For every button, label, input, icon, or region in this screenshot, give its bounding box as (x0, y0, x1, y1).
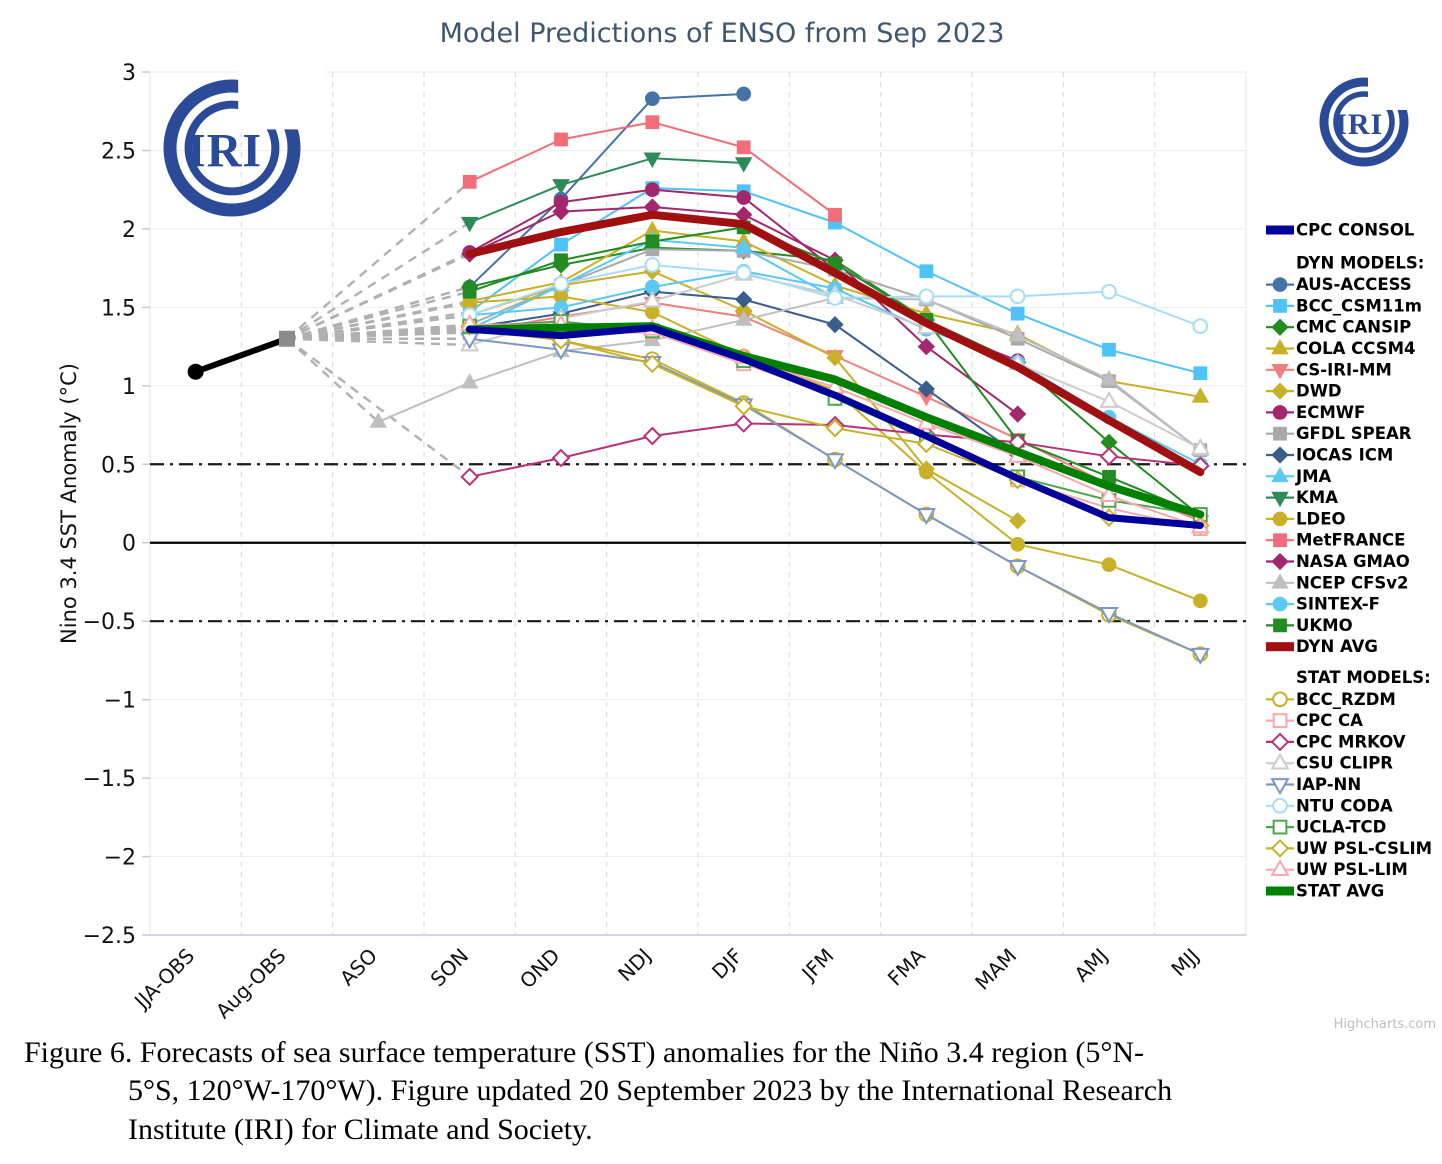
data-point-marker (1272, 554, 1288, 570)
legend-item-label: UW PSL-CSLIM (1296, 839, 1432, 858)
legend-item-label: COLA CCSM4 (1296, 339, 1415, 358)
data-point-marker (1272, 755, 1288, 769)
legend-item-label: CSU CLIPR (1296, 754, 1393, 773)
data-point-marker (1011, 307, 1024, 320)
legend-item-label: UKMO (1296, 616, 1353, 635)
legend-item[interactable]: JMA (1266, 467, 1332, 486)
legend-item-label: SINTEX-F (1296, 595, 1380, 614)
data-point-marker (1102, 285, 1116, 299)
legend-item[interactable]: BCC_RZDM (1266, 690, 1396, 709)
y-axis-tick-label: 1 (122, 375, 136, 400)
iri-logo-mask (238, 71, 325, 130)
observation-point (188, 364, 204, 380)
data-point-marker (1273, 692, 1287, 706)
iri-logo-text: IRI (1335, 108, 1383, 141)
data-point-marker (646, 183, 660, 197)
legend-item[interactable]: KMA (1266, 488, 1338, 507)
data-point-marker (1272, 319, 1288, 335)
data-point-marker (1274, 821, 1287, 834)
legend-item[interactable]: NTU CODA (1266, 796, 1393, 815)
data-point-marker (828, 291, 842, 305)
legend-item[interactable]: SINTEX-F (1266, 595, 1380, 614)
legend-item[interactable]: NCEP CFSv2 (1266, 573, 1409, 592)
data-point-marker (1272, 468, 1288, 482)
x-axis-tick-label: JJA-OBS (128, 944, 199, 1015)
data-point-marker (554, 277, 568, 291)
x-axis-tick-label: OND (515, 944, 565, 994)
data-point-marker (1273, 799, 1287, 813)
data-point-marker (737, 141, 750, 154)
legend-item-label: NCEP CFSv2 (1296, 573, 1409, 592)
legend-item[interactable]: BCC_CSM11m (1266, 296, 1422, 315)
y-axis-tick-label: −2 (104, 846, 136, 871)
data-point-marker (646, 116, 659, 129)
legend-item-label: STAT AVG (1296, 882, 1384, 901)
data-point-marker (829, 208, 842, 221)
legend-item-label: CPC CA (1296, 711, 1363, 730)
y-axis-tick-label: 1.5 (101, 296, 136, 321)
legend-item[interactable]: CPC MRKOV (1266, 732, 1406, 751)
data-point-marker (1103, 343, 1116, 356)
x-axis-tick-label: AMJ (1070, 944, 1113, 987)
legend-item[interactable]: MetFRANCE (1266, 531, 1405, 550)
data-point-marker (646, 92, 660, 106)
data-point-marker (1102, 558, 1116, 572)
data-point-marker (1274, 300, 1287, 313)
data-point-marker (1272, 492, 1288, 506)
data-point-marker (463, 175, 476, 188)
y-axis-tick-label: −2.5 (83, 924, 136, 949)
data-point-marker (1272, 840, 1288, 856)
enso-forecast-chart: IRIIRI32.521.510.50−0.5−1−1.5−2−2.5JJA-O… (0, 0, 1442, 1040)
y-axis-tick-label: 3 (122, 61, 136, 86)
y-axis-tick-label: 2 (122, 218, 136, 243)
y-axis-tick-label: −1.5 (83, 767, 136, 792)
legend-item[interactable]: COLA CCSM4 (1266, 339, 1415, 358)
caption-line-1: Figure 6. Forecasts of sea surface tempe… (0, 1034, 1442, 1072)
data-point-marker (1273, 278, 1287, 292)
legend-item-label: CMC CANSIP (1296, 318, 1411, 337)
data-point-marker (737, 266, 751, 280)
data-point-marker (1272, 364, 1288, 378)
chart-area: IRIIRI32.521.510.50−0.5−1−1.5−2−2.5JJA-O… (0, 0, 1442, 1040)
data-point-marker (463, 285, 476, 298)
data-point-marker (1274, 714, 1287, 727)
legend-item-label: NTU CODA (1296, 796, 1393, 815)
legend-item[interactable]: CMC CANSIP (1266, 318, 1411, 337)
data-point-marker (555, 238, 568, 251)
data-point-marker (920, 265, 933, 278)
legend-item-label: ECMWF (1296, 403, 1365, 422)
x-axis-tick-label: SON (426, 944, 474, 992)
legend-item[interactable]: ECMWF (1266, 403, 1365, 422)
y-axis-title: Nino 3.4 SST Anomaly (°C) (57, 363, 81, 644)
caption-line-2: 5°S, 120°W-170°W). Figure updated 20 Sep… (0, 1072, 1442, 1110)
data-point-marker (1274, 619, 1287, 632)
figure-container: IRIIRI32.521.510.50−0.5−1−1.5−2−2.5JJA-O… (0, 0, 1442, 1164)
y-axis-tick-label: −1 (104, 689, 136, 714)
legend-item-label: BCC_CSM11m (1296, 296, 1422, 315)
legend-item-label: UW PSL-LIM (1296, 860, 1408, 879)
legend-item[interactable]: UCLA-TCD (1266, 818, 1386, 837)
legend-item-label: DWD (1296, 382, 1342, 401)
chart-legend[interactable]: CPC CONSOLDYN MODELS:AUS-ACCESSBCC_CSM11… (1266, 221, 1432, 901)
y-axis-tick-label: 0.5 (101, 453, 136, 478)
data-point-marker (920, 465, 934, 479)
iri-logo-mask (1368, 72, 1424, 110)
x-axis-tick-label: ASO (335, 944, 382, 991)
data-point-marker (1272, 383, 1288, 399)
legend-swatch (1266, 887, 1294, 896)
legend-item[interactable]: NASA GMAO (1266, 552, 1410, 571)
legend-item-label: KMA (1296, 488, 1338, 507)
y-axis-tick-label: −0.5 (83, 610, 136, 635)
legend-item[interactable]: CSU CLIPR (1266, 754, 1393, 773)
legend-item[interactable]: DYN AVG (1266, 637, 1378, 656)
data-point-marker (1272, 340, 1288, 354)
legend-item-label: IAP-NN (1296, 775, 1361, 794)
legend-item-label: UCLA-TCD (1296, 818, 1386, 837)
x-axis-tick-label: JFM (796, 944, 839, 987)
legend-item-label: CPC MRKOV (1296, 732, 1406, 751)
data-point-marker (1274, 427, 1287, 440)
y-axis-tick-label: 2.5 (101, 139, 136, 164)
x-axis-tick-label: FMA (883, 943, 930, 990)
data-point-marker (1272, 734, 1288, 750)
legend-item-label: NASA GMAO (1296, 552, 1410, 571)
data-point-marker (1272, 779, 1288, 793)
data-point-marker (737, 87, 751, 101)
iri-logo: IRI (1324, 72, 1424, 162)
x-axis-tick-label: DJF (707, 944, 747, 984)
highcharts-credit: Highcharts.com (1334, 1017, 1436, 1032)
data-point-marker (1273, 512, 1287, 526)
data-point-marker (1272, 861, 1288, 875)
legend-item[interactable]: IOCAS ICM (1266, 446, 1393, 465)
iri-logo-text: IRI (187, 125, 262, 178)
observation-point (279, 331, 295, 347)
x-axis-tick-label: Aug-OBS (211, 944, 291, 1024)
x-axis-tick-label: MJJ (1166, 944, 1204, 982)
legend-item[interactable]: UKMO (1266, 616, 1353, 635)
legend-swatch (1266, 226, 1294, 235)
legend-group-header: STAT MODELS: (1296, 668, 1431, 687)
legend-item[interactable]: IAP-NN (1266, 775, 1361, 794)
legend-item[interactable]: CPC CA (1266, 711, 1363, 730)
figure-caption: Figure 6. Forecasts of sea surface tempe… (0, 1034, 1442, 1149)
legend-group-header: DYN MODELS: (1296, 253, 1424, 272)
data-point-marker (555, 254, 568, 267)
data-point-marker (1194, 367, 1207, 380)
legend-item[interactable]: LDEO (1266, 509, 1346, 528)
legend-item-label: DYN AVG (1296, 637, 1378, 656)
legend-item[interactable]: UW PSL-CSLIM (1266, 839, 1432, 858)
legend-item[interactable]: DWD (1266, 382, 1342, 401)
legend-item[interactable]: AUS-ACCESS (1266, 275, 1412, 294)
data-point-marker (920, 290, 934, 304)
legend-item[interactable]: STAT AVG (1266, 882, 1384, 901)
data-point-marker (737, 191, 751, 205)
legend-item-label: IOCAS ICM (1296, 446, 1393, 465)
x-axis-tick-label: NDJ (613, 944, 656, 987)
legend-item-label: MetFRANCE (1296, 531, 1405, 550)
caption-line-3: Institute (IRI) for Climate and Society. (0, 1111, 1442, 1149)
legend-swatch (1266, 642, 1294, 651)
legend-item-label: BCC_RZDM (1296, 690, 1396, 709)
data-point-marker (1273, 597, 1287, 611)
legend-item-label: AUS-ACCESS (1296, 275, 1412, 294)
data-point-marker (1011, 290, 1025, 304)
legend-item[interactable]: CS-IRI-MM (1266, 360, 1392, 379)
data-point-marker (646, 258, 660, 272)
y-axis-tick-label: 0 (122, 532, 136, 557)
chart-title: Model Predictions of ENSO from Sep 2023 (440, 18, 1005, 49)
data-point-marker (1194, 594, 1208, 608)
data-point-marker (1272, 574, 1288, 588)
data-point-marker (1194, 319, 1208, 333)
data-point-marker (1011, 537, 1025, 551)
legend-item-label: CS-IRI-MM (1296, 360, 1392, 379)
data-point-marker (1273, 406, 1287, 420)
data-point-marker (1274, 534, 1287, 547)
data-point-marker (555, 133, 568, 146)
legend-item[interactable]: GFDL SPEAR (1266, 424, 1412, 443)
legend-item-label: LDEO (1296, 509, 1346, 528)
legend-item[interactable]: UW PSL-LIM (1266, 860, 1408, 879)
x-axis-tick-label: MAM (970, 944, 1021, 995)
legend-item-label: CPC CONSOL (1296, 221, 1415, 240)
data-point-marker (646, 235, 659, 248)
legend-item[interactable]: CPC CONSOL (1266, 221, 1415, 240)
data-point-marker (1272, 447, 1288, 463)
legend-item-label: JMA (1295, 467, 1332, 486)
legend-item-label: GFDL SPEAR (1296, 424, 1412, 443)
